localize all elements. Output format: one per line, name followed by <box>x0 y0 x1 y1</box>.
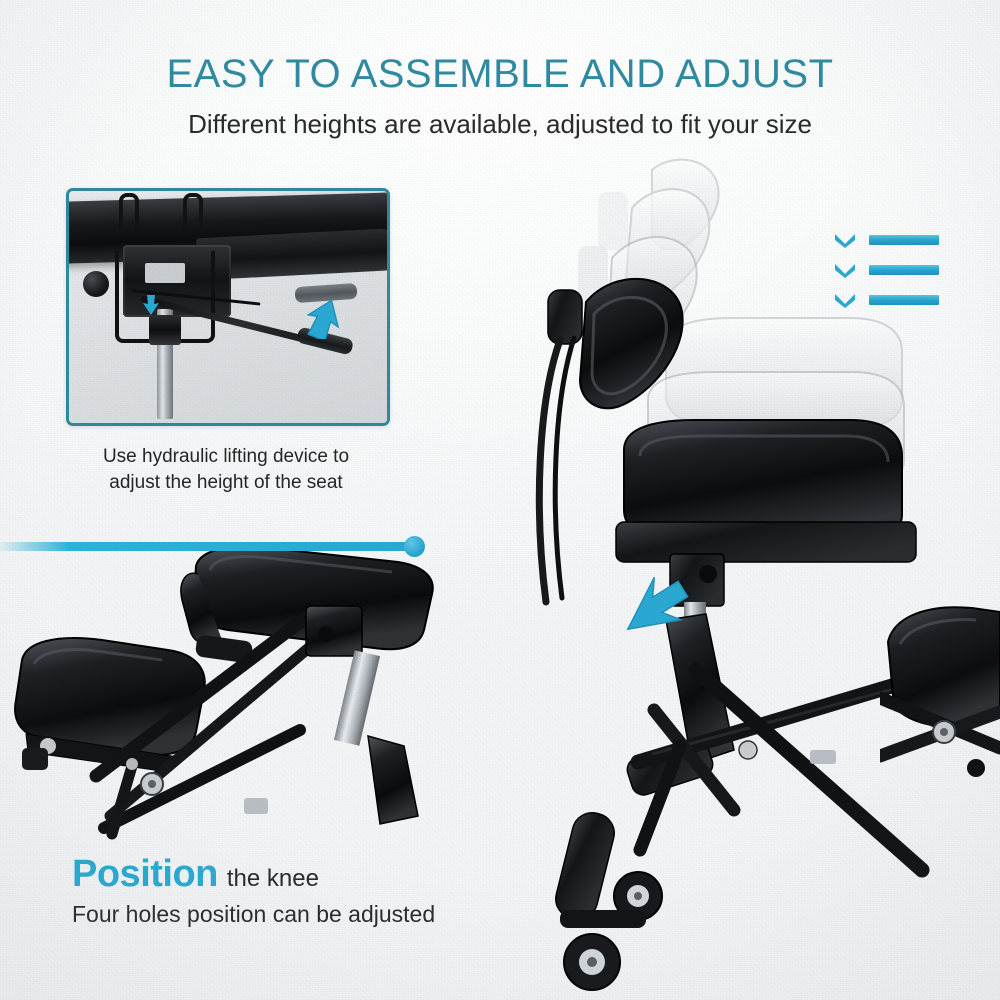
height-level-bar <box>869 295 939 305</box>
chevron-down-icon <box>833 232 857 248</box>
inset-caption: Use hydraulic lifting device to adjust t… <box>48 444 404 496</box>
position-subtext: Four holes position can be adjusted <box>72 901 435 928</box>
small-arrow-icon <box>143 295 159 315</box>
hydraulic-detail-panel <box>66 188 390 426</box>
page-subtitle: Different heights are available, adjuste… <box>0 109 1000 140</box>
position-headline: Positionthe knee <box>72 855 435 893</box>
up-arrow-icon <box>307 299 341 339</box>
chevron-down-icon <box>833 292 857 308</box>
position-emphasis: Position <box>72 853 218 895</box>
hydraulic-detail-photo <box>69 191 387 423</box>
right-pad-photo <box>880 590 1000 820</box>
pivot-knob <box>83 271 109 297</box>
infographic-root: EASY TO ASSEMBLE AND ADJUST Different he… <box>0 0 1000 1000</box>
lift-collar <box>149 315 181 345</box>
small-chair-photo <box>0 548 470 878</box>
small-chair-knee-pad <box>15 638 205 772</box>
position-rest: the knee <box>227 865 319 892</box>
chevron-down-icon <box>833 262 857 278</box>
section-divider-dot <box>404 536 425 557</box>
chevron-row <box>833 292 939 308</box>
height-level-bar <box>869 265 939 275</box>
inset-caption-line-1: Use hydraulic lifting device to <box>48 444 404 470</box>
hook-left <box>119 193 139 231</box>
page-title: EASY TO ASSEMBLE AND ADJUST <box>0 52 1000 97</box>
position-caption: Positionthe knee Four holes position can… <box>72 855 435 928</box>
hook-right <box>183 193 203 231</box>
chevron-row <box>833 232 939 248</box>
chair-seat <box>616 420 916 562</box>
chevron-row <box>833 262 939 278</box>
section-divider <box>0 542 414 551</box>
inset-caption-line-2: adjust the height of the seat <box>48 470 404 496</box>
height-levels-indicator <box>833 232 939 322</box>
height-level-bar <box>869 235 939 245</box>
